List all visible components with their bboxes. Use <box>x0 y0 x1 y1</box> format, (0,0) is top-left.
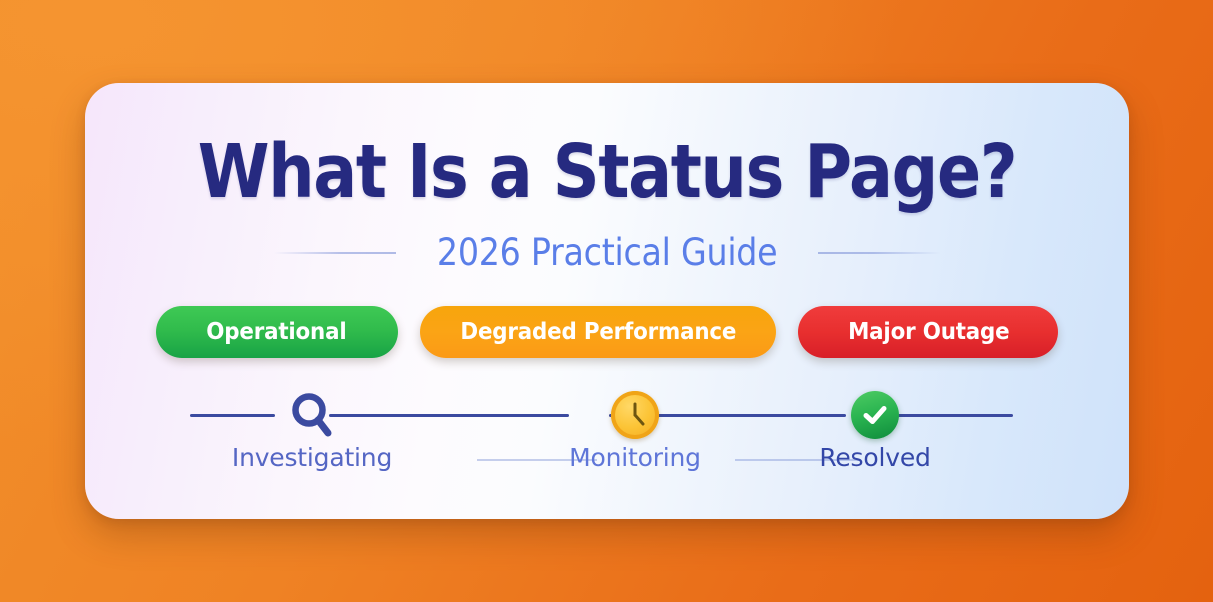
status-badge-degraded-performance[interactable]: Degraded Performance <box>420 306 777 358</box>
subtitle-rule-left <box>274 252 396 254</box>
status-page-card: What Is a Status Page? 2026 Practical Gu… <box>85 83 1129 519</box>
infographic-canvas: What Is a Status Page? 2026 Practical Gu… <box>0 0 1213 602</box>
status-pill-row: Operational Degraded Performance Major O… <box>85 306 1129 358</box>
clock-icon <box>609 389 661 441</box>
timeline-step-resolved[interactable]: Resolved <box>840 383 910 493</box>
page-subtitle: 2026 Practical Guide <box>437 231 777 274</box>
status-badge-operational-label: Operational <box>207 319 347 345</box>
timeline-step-investigating-label: Investigating <box>232 443 392 472</box>
page-title: What Is a Status Page? <box>148 135 1067 209</box>
status-badge-major-outage[interactable]: Major Outage <box>798 306 1058 358</box>
incident-timeline: Investigating Monitoring <box>85 383 1129 493</box>
title-block: What Is a Status Page? <box>85 135 1129 209</box>
check-circle-icon <box>849 389 901 441</box>
status-badge-major-outage-label: Major Outage <box>848 319 1009 345</box>
subtitle-block: 2026 Practical Guide <box>85 231 1129 274</box>
timeline-step-monitoring-label: Monitoring <box>569 443 701 472</box>
status-badge-operational[interactable]: Operational <box>156 306 398 358</box>
timeline-step-investigating[interactable]: Investigating <box>277 383 347 493</box>
subtitle-rule-right <box>818 252 940 254</box>
status-badge-degraded-performance-label: Degraded Performance <box>460 319 736 345</box>
timeline-step-resolved-label: Resolved <box>819 443 930 472</box>
timeline-segment-investigating-monitoring <box>329 414 569 417</box>
timeline-segment-start <box>190 414 275 417</box>
magnifier-icon <box>286 389 338 441</box>
timeline-step-monitoring[interactable]: Monitoring <box>600 383 670 493</box>
